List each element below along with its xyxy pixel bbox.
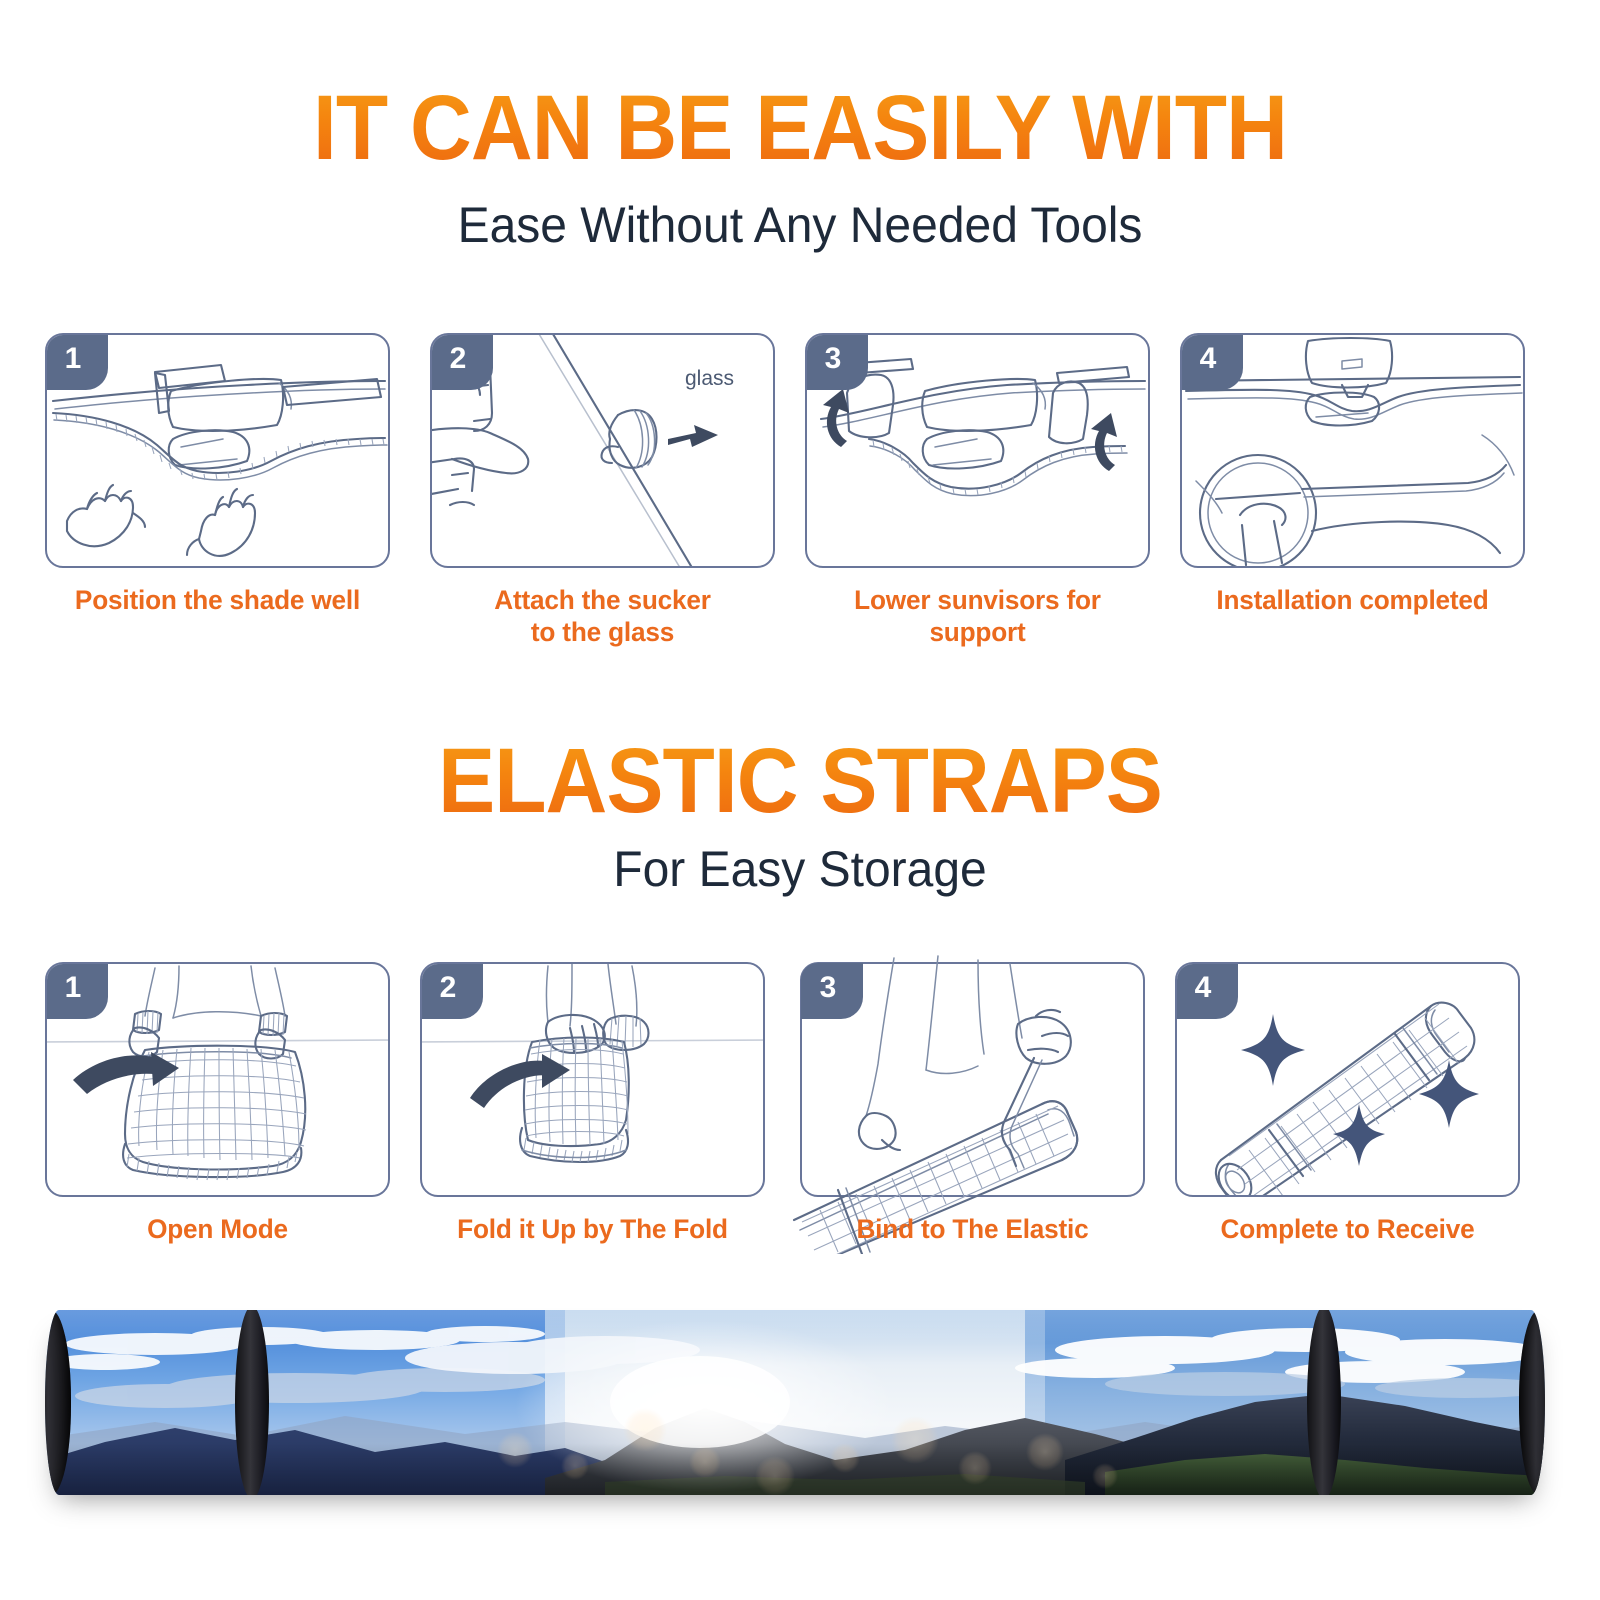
install-step-3-caption: Lower sunvisors for support <box>810 585 1145 649</box>
rotate-arrow-right-icon <box>1091 413 1117 471</box>
storage-step-4-panel: 4 <box>1175 962 1520 1197</box>
storage-step-3-panel: 3 <box>800 962 1145 1197</box>
install-step-2-caption-line1: Attach the sucker <box>435 585 770 617</box>
section-1-title: IT CAN BE EASILY WITH <box>56 82 1544 174</box>
step-badge-1: 1 <box>46 334 108 390</box>
section-2-subtitle: For Easy Storage <box>32 840 1568 898</box>
storage-step-1-caption: Open Mode <box>50 1214 385 1246</box>
step-badge-4: 4 <box>1181 334 1243 390</box>
install-step-4-panel: 4 <box>1180 333 1525 568</box>
storage-step-3-caption: Bind to The Elastic <box>805 1214 1140 1246</box>
rolled-sunshade-product <box>45 1310 1545 1495</box>
section-2-heading: ELASTIC STRAPS <box>0 735 1600 827</box>
install-step-4-caption: Installation completed <box>1185 585 1520 617</box>
install-steps-row: 1 Position the shade well <box>0 333 1600 633</box>
install-step-3-panel: 3 <box>805 333 1150 568</box>
infographic-page: IT CAN BE EASILY WITH Ease Without Any N… <box>0 0 1600 1600</box>
step-badge-3: 3 <box>801 963 863 1019</box>
install-step-2-panel: glass 2 <box>430 333 775 568</box>
install-step-2-caption-line2: to the glass <box>435 617 770 649</box>
storage-step-1-panel: 1 <box>45 962 390 1197</box>
sparkle-icon <box>1333 1104 1385 1166</box>
fold-arrow-icon <box>73 1052 179 1094</box>
section-1-subheading: Ease Without Any Needed Tools <box>0 196 1600 254</box>
install-step-3-caption-line2: support <box>810 617 1145 649</box>
glass-label: glass <box>685 367 734 391</box>
elastic-strap-left <box>235 1310 269 1495</box>
section-2-title: ELASTIC STRAPS <box>56 735 1544 827</box>
fold-arrow-icon <box>470 1054 570 1108</box>
storage-step-2-caption: Fold it Up by The Fold <box>425 1214 760 1246</box>
install-step-2-caption: Attach the sucker to the glass <box>435 585 770 649</box>
step-badge-4: 4 <box>1176 963 1238 1019</box>
step-badge-3: 3 <box>806 334 868 390</box>
section-1-heading: IT CAN BE EASILY WITH <box>0 82 1600 174</box>
install-step-3-caption-line1: Lower sunvisors for <box>810 585 1145 617</box>
step-badge-2: 2 <box>421 963 483 1019</box>
sparkle-icon <box>1419 1060 1479 1128</box>
elastic-strap-right <box>1307 1310 1341 1495</box>
sparkle-icon <box>1241 1014 1305 1086</box>
direction-arrow-icon <box>668 425 718 447</box>
section-1-subtitle: Ease Without Any Needed Tools <box>32 196 1568 254</box>
product-photo-section <box>0 1300 1600 1530</box>
install-step-1-panel: 1 <box>45 333 390 568</box>
install-step-1-caption: Position the shade well <box>50 585 385 617</box>
storage-step-4-caption: Complete to Receive <box>1180 1214 1515 1246</box>
step-badge-2: 2 <box>431 334 493 390</box>
storage-steps-row: 1 Open Mode <box>0 962 1600 1262</box>
section-2-subheading: For Easy Storage <box>0 840 1600 898</box>
storage-step-2-panel: 2 <box>420 962 765 1197</box>
step-badge-1: 1 <box>46 963 108 1019</box>
